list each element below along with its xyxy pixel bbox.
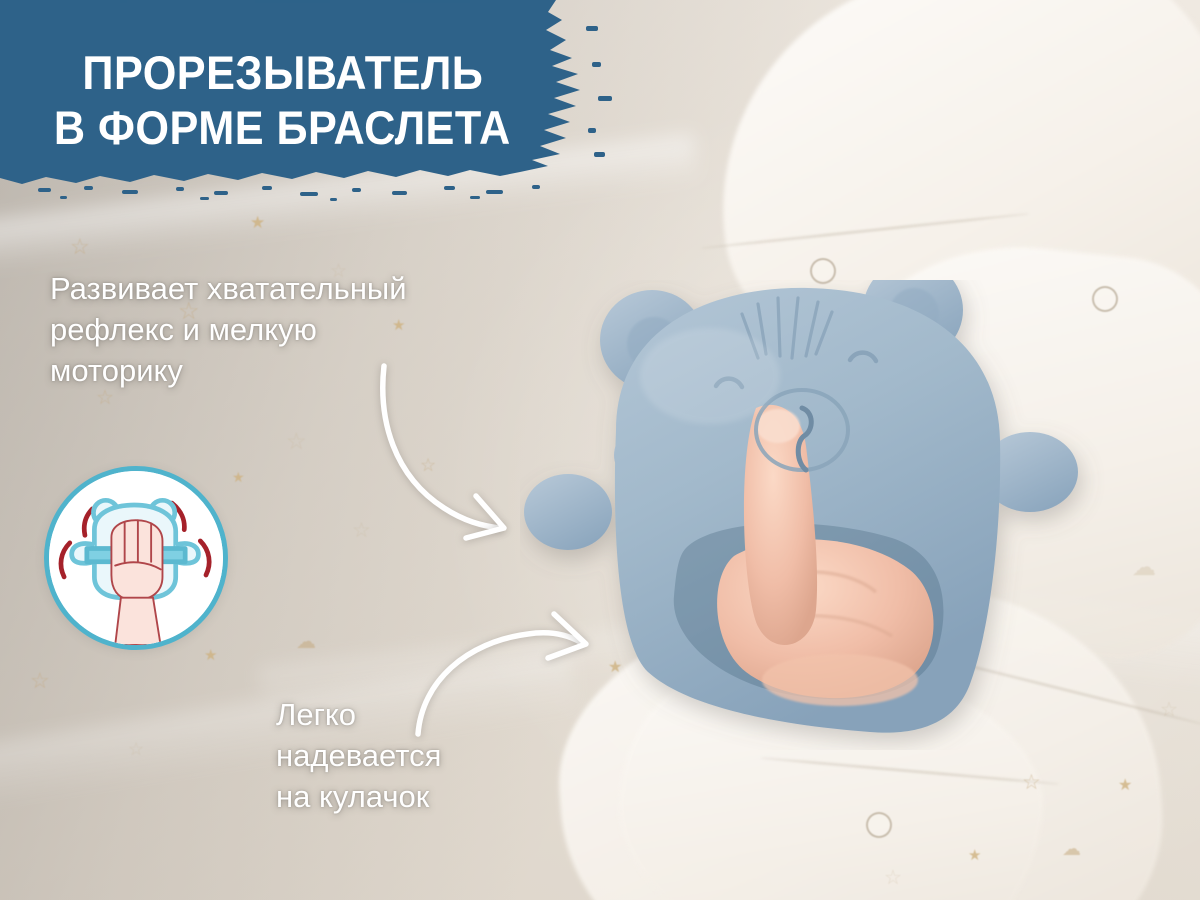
blanket-star-motif: ☆ <box>352 520 371 541</box>
title-banner-text: ПРОРЕЗЫВАТЕЛЬ В ФОРМЕ БРАСЛЕТА <box>0 0 575 205</box>
fingernail <box>756 409 800 443</box>
title-line-1: ПРОРЕЗЫВАТЕЛЬ <box>82 49 483 97</box>
title-line-2: В ФОРМЕ БРАСЛЕТА <box>54 104 511 152</box>
blanket-star-motif: ☆ <box>128 740 144 758</box>
fist-in-teether-icon <box>44 466 228 650</box>
clothing-snap-button <box>866 812 892 838</box>
teether-body-group <box>524 280 1078 733</box>
benefit-grasp-reflex: Развивает хватательный рефлекс и мелкую … <box>50 268 550 392</box>
infographic-canvas: ☆ ★ ☆ ☆ ★ ☆ ☆ ★ ☆ ☆ ☆ ☆ ★ ☁ ★ ☆ ☆ ★ ☁ ☆ … <box>0 0 1200 900</box>
blanket-star-motif: ☆ <box>70 236 90 258</box>
bear-teether <box>520 280 1120 750</box>
blanket-star-motif: ☆ <box>420 456 436 474</box>
benefit-easy-fit: Легко надевается на кулачок <box>276 694 606 818</box>
blanket-star-motif: ★ <box>204 648 217 663</box>
blanket-cloud-motif: ☁ <box>296 632 316 652</box>
teether-nub-left <box>524 474 612 550</box>
blanket-star-motif: ★ <box>250 214 265 231</box>
benefit-grasp-reflex-line-2: рефлекс и мелкую <box>50 309 550 350</box>
icon-fist <box>111 520 162 645</box>
blanket-star-motif: ☆ <box>30 670 50 692</box>
blanket-star-motif: ☆ <box>286 430 307 453</box>
benefit-grasp-reflex-line-3: моторику <box>50 350 550 391</box>
blanket-star-motif: ★ <box>232 470 245 484</box>
benefit-easy-fit-line-2: надевается <box>276 735 606 776</box>
benefit-easy-fit-line-3: на кулачок <box>276 776 606 817</box>
benefit-grasp-reflex-line-1: Развивает хватательный <box>50 268 550 309</box>
benefit-easy-fit-line-1: Легко <box>276 694 606 735</box>
